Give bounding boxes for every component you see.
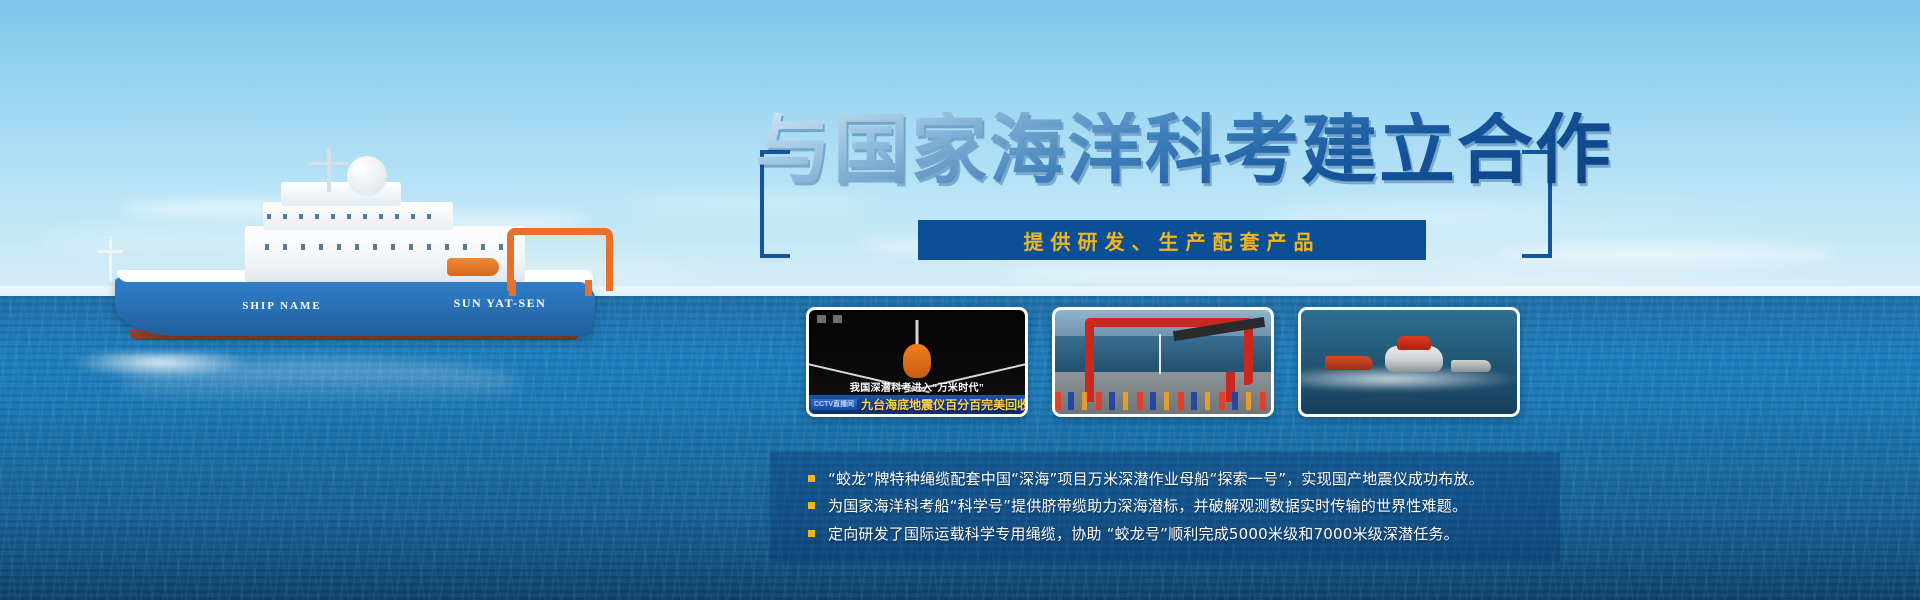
ship-mast (327, 148, 331, 192)
thumbnail-submersible[interactable] (1298, 307, 1520, 417)
ship-name-bow: SHIP NAME (217, 300, 347, 312)
subtitle-badge: 提供研发、生产配套产品 (918, 220, 1426, 260)
bow-pole-arm (97, 250, 123, 253)
broadcast-logo-icon (817, 315, 842, 323)
page-title-text: 与国家海洋科考建立合作 (755, 112, 1613, 188)
crane-leg (509, 280, 516, 296)
porthole-row-icon (265, 244, 515, 250)
bullet-square-icon (808, 530, 815, 537)
ship-mast-arm (309, 162, 349, 165)
research-vessel: SHIP NAME SUN YAT-SEN (95, 140, 615, 370)
list-item-label: 为国家海洋科考船“科学号”提供脐带缆助力深海潜标，并破解观测数据实时传输的世界性… (828, 495, 1467, 518)
banner-stage: SHIP NAME SUN YAT-SEN 与国家海洋科考建立合作 提供研发、生… (0, 0, 1920, 600)
lifeboat-icon (447, 258, 499, 276)
a-frame-crane-icon (507, 228, 613, 291)
thumbnail-caption-bar: CCTV直播间 九台海底地震仪百分百完美回收 (809, 395, 1025, 414)
porthole-row-icon (267, 214, 437, 219)
bullet-square-icon (808, 502, 815, 509)
ship-name-hull: SUN YAT-SEN (425, 296, 575, 311)
crane-leg (585, 280, 592, 296)
list-item: 定向研发了国际运载科学专用绳缆，协助 “蛟龙号”顺利完成5000米级和7000米… (770, 521, 1560, 548)
support-boat-icon (1325, 356, 1373, 370)
list-item: 为国家海洋科考船“科学号”提供脐带缆助力深海潜标，并破解观测数据实时传输的世界性… (770, 493, 1560, 520)
hoist-line-icon (1159, 334, 1161, 374)
thumbnail-caption-top: 我国深潜科考进入“万米时代” (809, 379, 1025, 394)
radar-dome-icon (347, 156, 387, 196)
bow-pole (109, 236, 112, 282)
list-item-label: “蛟龙”牌特种绳缆配套中国“深海”项目万米深潜作业母船“探索一号”，实现国产地震… (828, 468, 1484, 491)
thumbnail-deck-crane[interactable] (1052, 307, 1274, 417)
page-title: 与国家海洋科考建立合作 (755, 112, 1613, 188)
highlights-panel: “蛟龙”牌特种绳缆配套中国“深海”项目万米深潜作业母船“探索一号”，实现国产地震… (770, 452, 1560, 562)
cloud-icon (620, 196, 880, 211)
thumbnail-deep-sea-news[interactable]: 我国深潜科考进入“万米时代” CCTV直播间 九台海底地震仪百分百完美回收 (806, 307, 1028, 417)
bullet-square-icon (808, 475, 815, 482)
submersible-sail-icon (1397, 336, 1431, 350)
list-item: “蛟龙”牌特种绳缆配套中国“深海”项目万米深潜作业母船“探索一号”，实现国产地震… (770, 466, 1560, 493)
crew-figures (1055, 392, 1271, 410)
cloud-icon (1000, 266, 1380, 279)
seismometer-pod-icon (903, 344, 931, 378)
support-boat-icon (1451, 360, 1491, 372)
thumbnail-caption-tag: CCTV直播间 (811, 399, 857, 410)
list-item-label: 定向研发了国际运载科学专用绳缆，协助 “蛟龙号”顺利完成5000米级和7000米… (828, 523, 1459, 546)
thumbnail-gallery: 我国深潜科考进入“万米时代” CCTV直播间 九台海底地震仪百分百完美回收 (806, 307, 1520, 417)
thumbnail-caption-main: 九台海底地震仪百分百完美回收 (861, 396, 1028, 413)
subtitle-badge-text: 提供研发、生产配套产品 (1024, 226, 1321, 255)
